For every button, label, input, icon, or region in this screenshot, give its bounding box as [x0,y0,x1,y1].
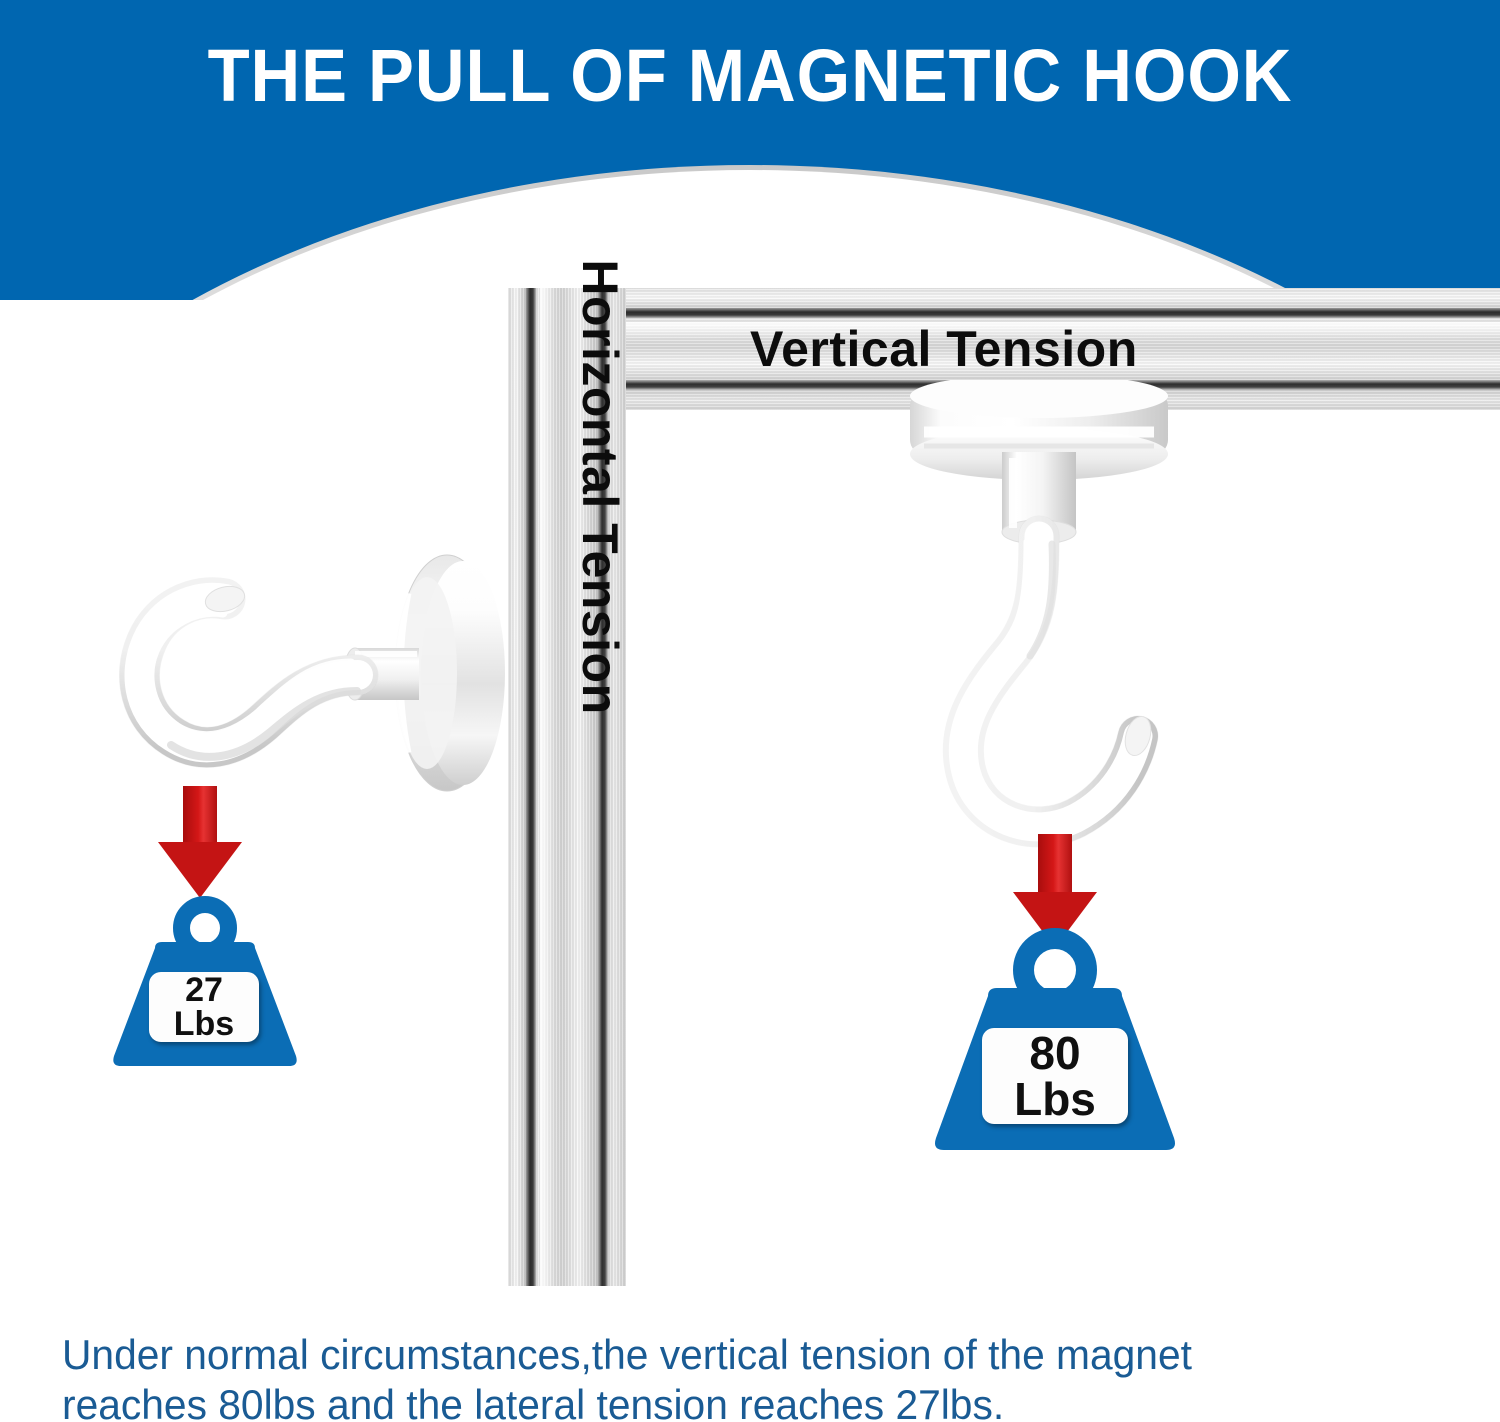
horizontal-tension-label: Horizontal Tension [571,107,629,867]
caption-block: Under normal circumstances,the vertical … [62,1330,1420,1422]
weight-unit: Lbs [174,1007,234,1041]
page-title: THE PULL OF MAGNETIC HOOK [53,34,1448,118]
horizontal-tension-weight: 27 Lbs [110,896,300,1066]
arrow-shaft [1038,834,1072,896]
weight-unit: Lbs [1014,1076,1096,1122]
infographic-page: THE PULL OF MAGNETIC HOOK Vertical Tensi… [0,0,1500,1422]
vertical-tension-label: Vertical Tension [750,318,1490,380]
arrow-shaft [183,786,217,846]
weight-value: 80 [1029,1030,1080,1076]
bar-groove-top [600,308,1500,318]
vertical-magnetic-hook-icon [880,380,1220,880]
caption-line-2: reaches 80lbs and the lateral tension re… [62,1380,1420,1422]
weight-value-plate: 80 Lbs [982,1028,1128,1124]
header-curve [0,170,1500,300]
caption-line-1: Under normal circumstances,the vertical … [62,1330,1420,1380]
horizontal-magnetic-hook-icon [55,505,535,845]
header-banner: THE PULL OF MAGNETIC HOOK [0,0,1500,300]
weight-value: 27 [185,973,223,1007]
bar-highlight [540,288,554,1286]
vertical-tension-weight: 80 Lbs [930,928,1180,1148]
weight-value-plate: 27 Lbs [149,972,259,1042]
horizontal-load-arrow [158,786,242,898]
arrow-head [158,842,242,898]
